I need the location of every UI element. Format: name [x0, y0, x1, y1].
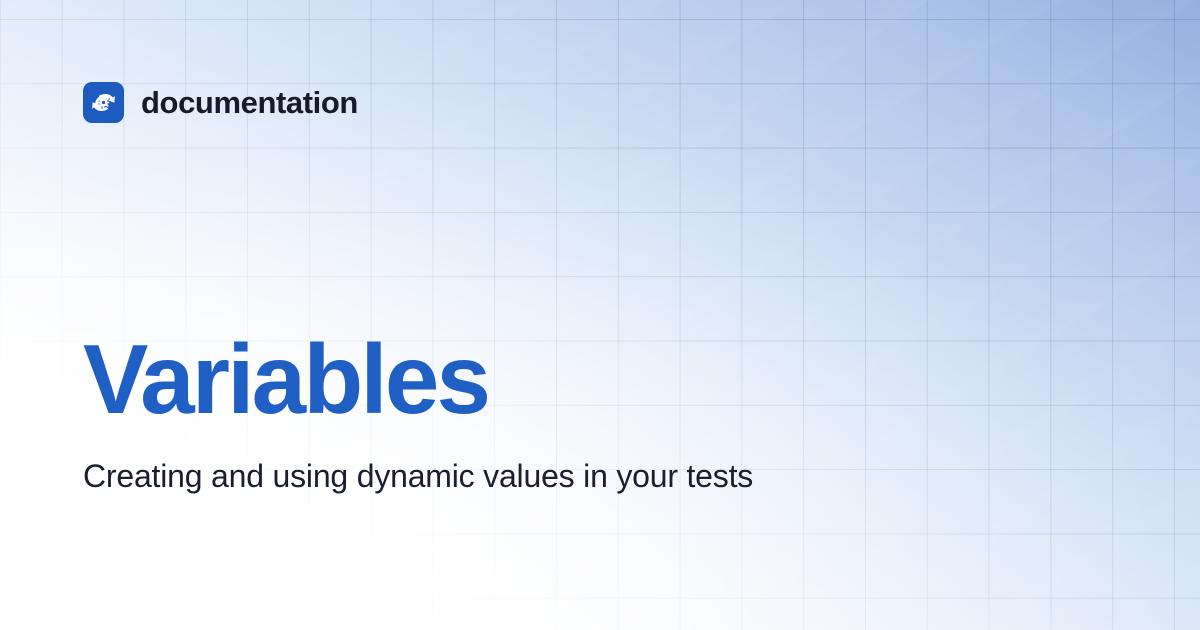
hero-text-block: Variables Creating and using dynamic val… — [83, 330, 883, 498]
og-banner: documentation Variables Creating and usi… — [0, 0, 1200, 630]
banner-content: documentation Variables Creating and usi… — [0, 0, 1200, 630]
brand-header[interactable]: documentation — [83, 82, 358, 123]
page-subtitle: Creating and using dynamic values in you… — [83, 454, 823, 498]
circular-arrows-gear-icon — [83, 82, 124, 123]
page-title: Variables — [83, 330, 883, 428]
brand-name-label: documentation — [141, 87, 358, 118]
